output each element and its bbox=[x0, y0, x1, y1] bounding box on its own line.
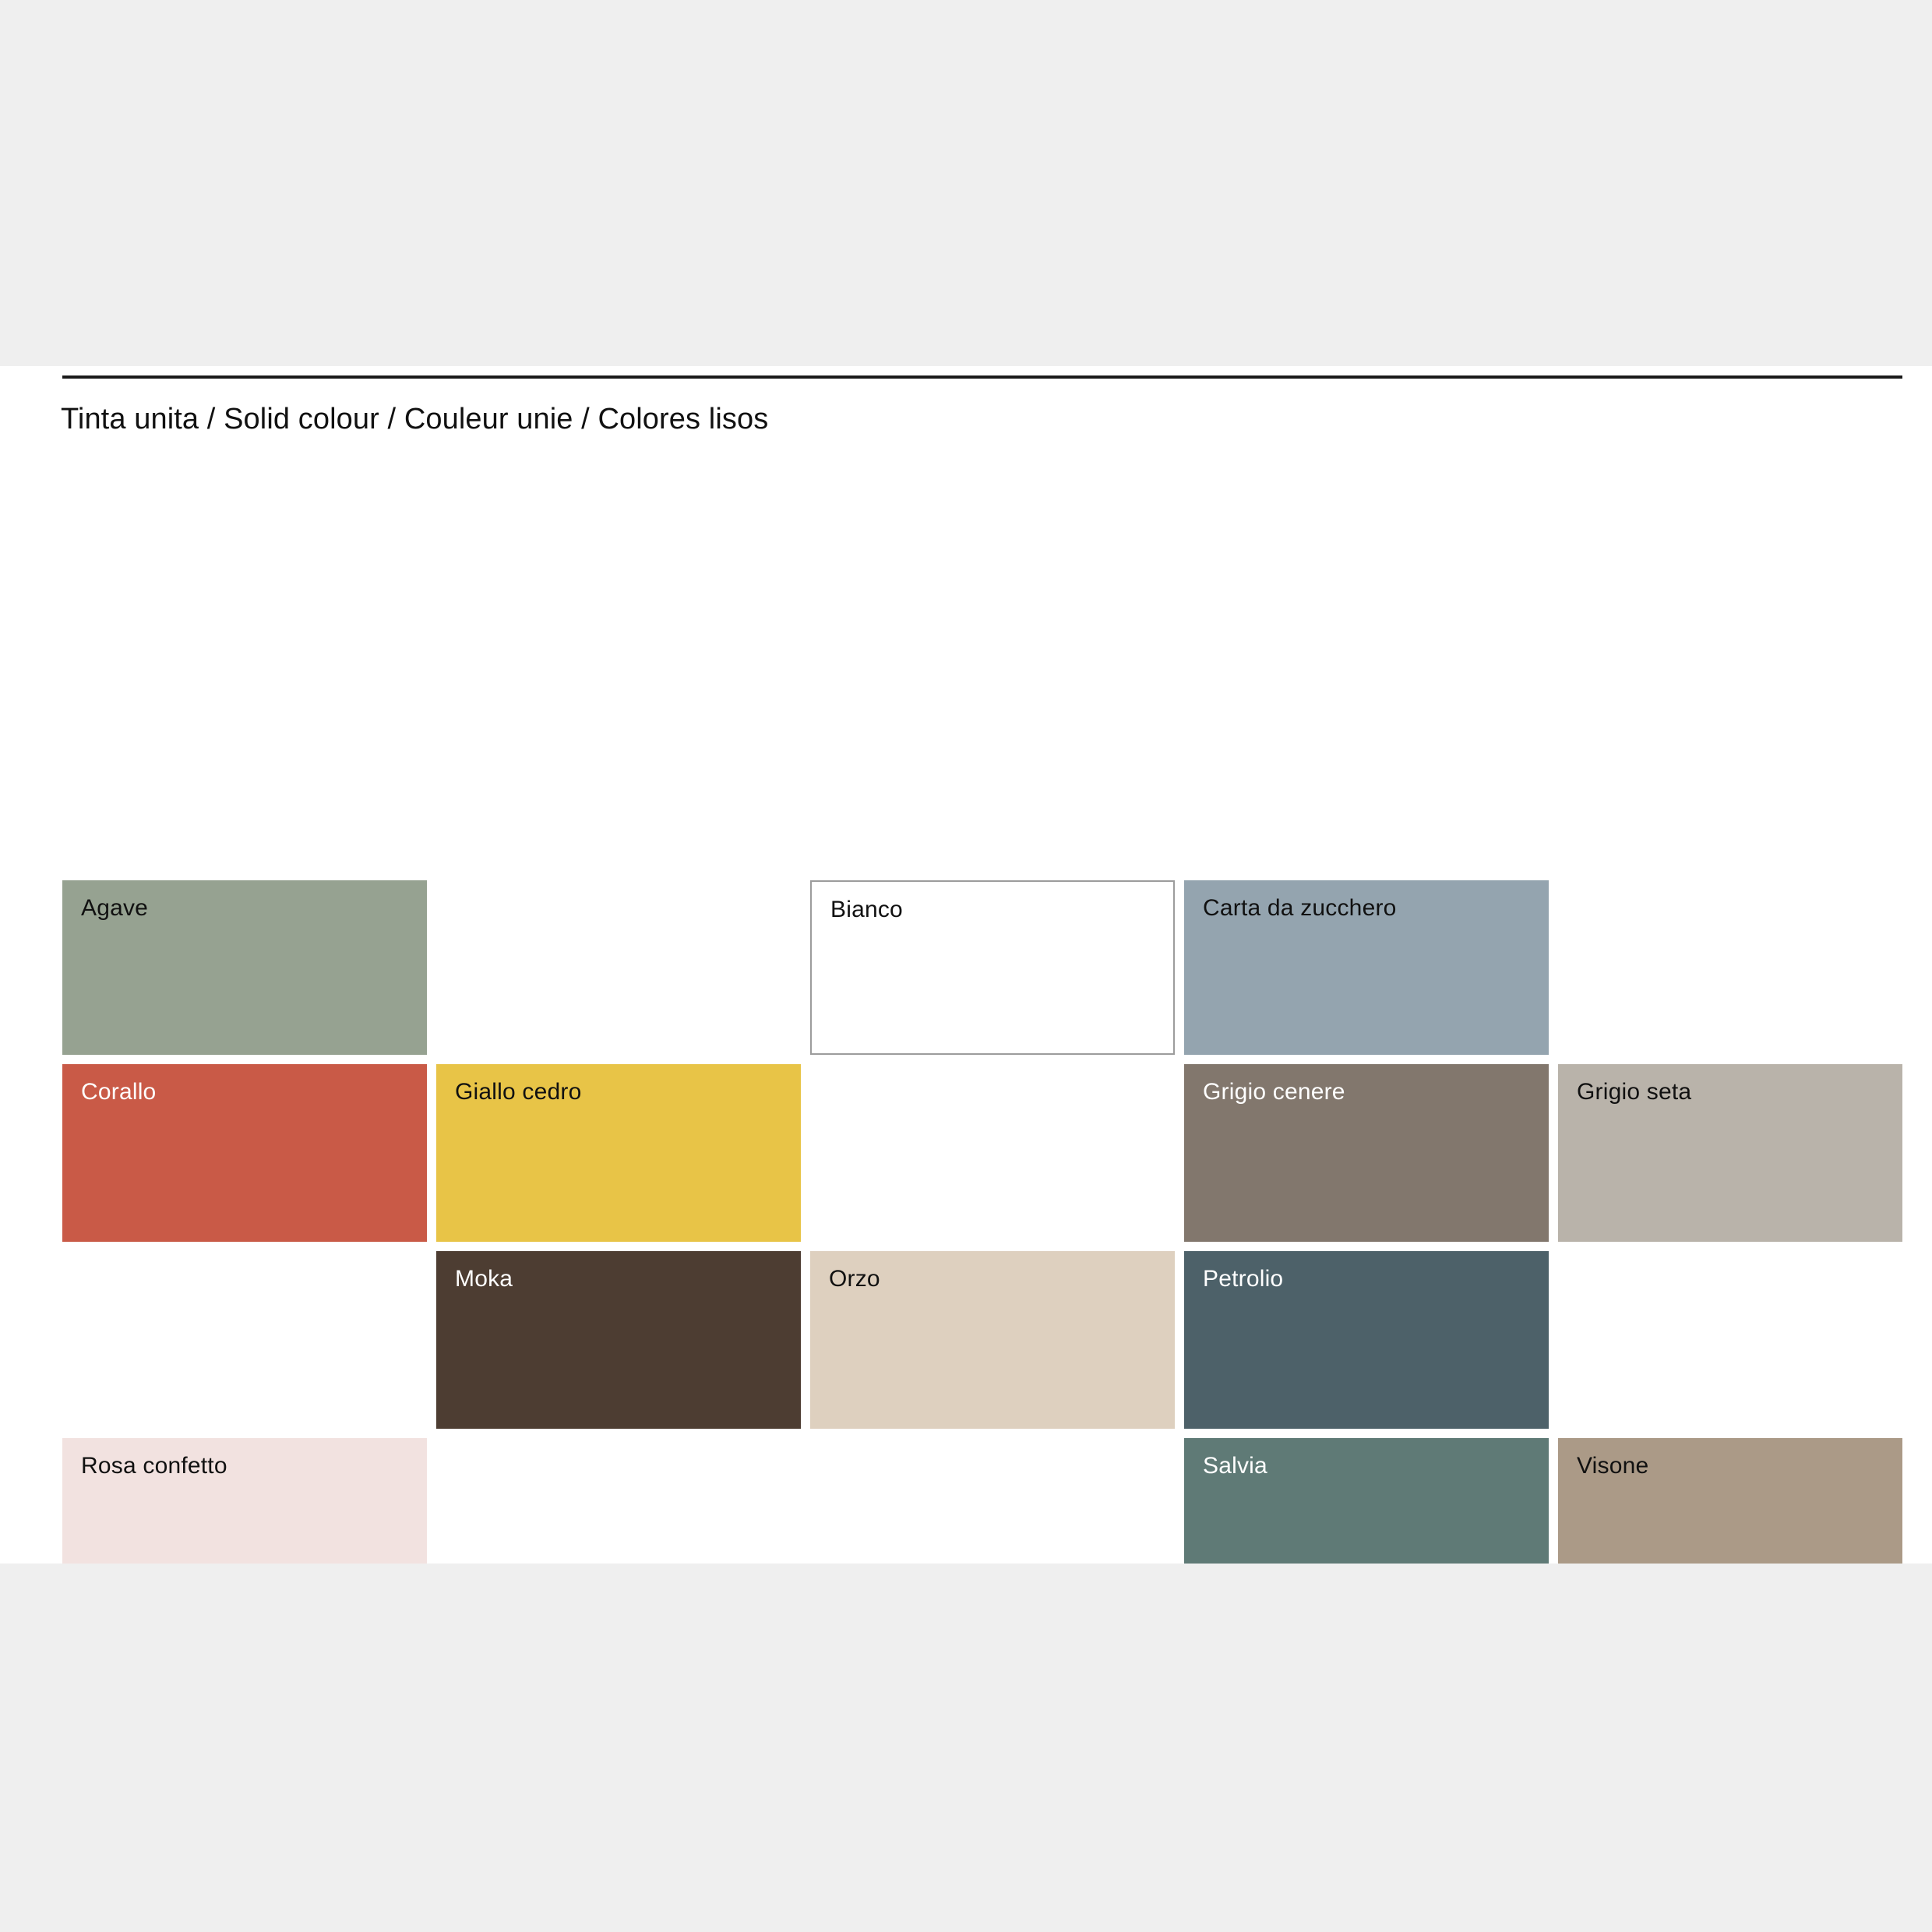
colour-swatch-label: Grigio seta bbox=[1577, 1077, 1691, 1108]
colour-swatch[interactable]: Grigio cenere bbox=[1184, 1064, 1549, 1242]
colour-swatch[interactable]: Moka bbox=[436, 1251, 801, 1429]
colour-swatch-label: Moka bbox=[455, 1264, 513, 1295]
colour-swatch-label: Bianco bbox=[830, 894, 903, 925]
colour-swatch[interactable]: Agave bbox=[62, 880, 427, 1055]
colour-swatch[interactable]: Bianco bbox=[810, 880, 1175, 1055]
page-title: Tinta unita / Solid colour / Couleur uni… bbox=[61, 400, 768, 438]
colour-swatch-label: Visone bbox=[1577, 1451, 1648, 1482]
colour-swatch-label: Salvia bbox=[1203, 1451, 1267, 1482]
colour-swatch-label: Giallo cedro bbox=[455, 1077, 581, 1108]
colour-swatch-grid: AgaveBiancoCarta da zuccheroCoralloGiall… bbox=[0, 880, 1932, 1613]
colour-swatch-label: Carta da zucchero bbox=[1203, 893, 1397, 924]
colour-swatch[interactable]: Petrolio bbox=[1184, 1251, 1549, 1429]
page-bottom-background-band bbox=[0, 1564, 1932, 1932]
colour-swatch-label: Agave bbox=[81, 893, 148, 924]
colour-swatch[interactable]: Giallo cedro bbox=[436, 1064, 801, 1242]
page-sheet: Tinta unita / Solid colour / Couleur uni… bbox=[0, 366, 1932, 1564]
colour-swatch[interactable]: Orzo bbox=[810, 1251, 1175, 1429]
colour-swatch-label: Corallo bbox=[81, 1077, 156, 1108]
colour-swatch[interactable]: Grigio seta bbox=[1558, 1064, 1902, 1242]
colour-swatch-label: Rosa confetto bbox=[81, 1451, 227, 1482]
header-divider-rule bbox=[62, 375, 1902, 379]
page-top-background-band bbox=[0, 0, 1932, 366]
colour-swatch-label: Grigio cenere bbox=[1203, 1077, 1345, 1108]
colour-swatch[interactable]: Carta da zucchero bbox=[1184, 880, 1549, 1055]
colour-swatch-label: Orzo bbox=[829, 1264, 880, 1295]
colour-swatch[interactable]: Corallo bbox=[62, 1064, 427, 1242]
colour-swatch-label: Petrolio bbox=[1203, 1264, 1283, 1295]
